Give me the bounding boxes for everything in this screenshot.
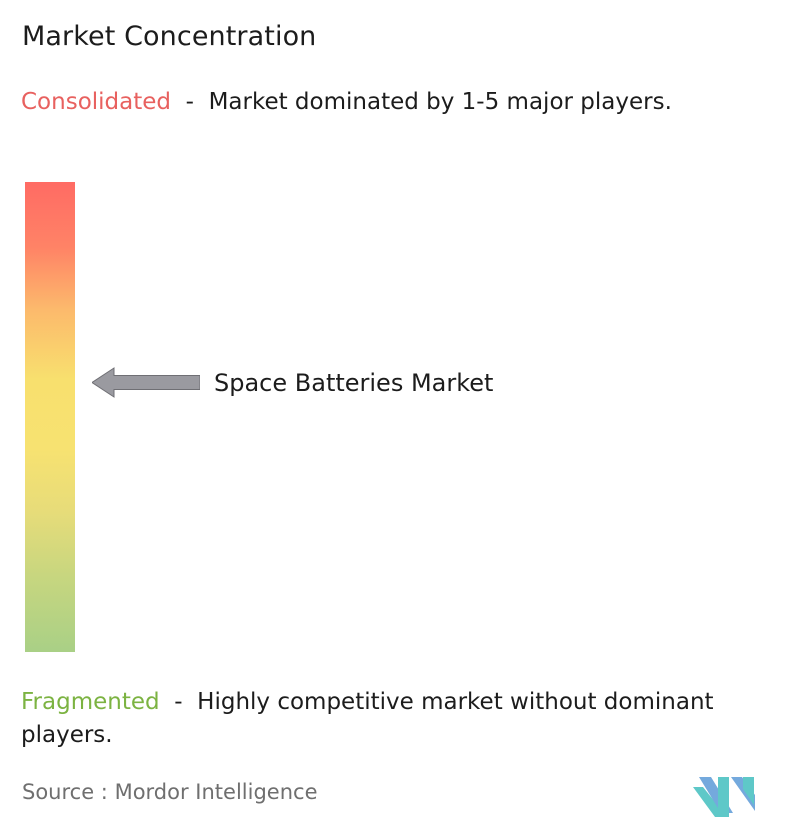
consolidated-separator: -	[171, 89, 209, 115]
mordor-intelligence-logo-icon	[693, 775, 755, 821]
consolidated-keyword: Consolidated	[21, 89, 171, 115]
footer: Source : Mordor Intelligence	[0, 775, 796, 825]
market-marker: Space Batteries Market	[92, 366, 493, 399]
source-name: Mordor Intelligence	[115, 780, 318, 804]
consolidated-text: Market dominated by 1-5 major players.	[209, 89, 672, 115]
source-attribution: Source : Mordor Intelligence	[22, 778, 317, 806]
source-label: Source :	[22, 780, 108, 804]
consolidated-description: Consolidated - Market dominated by 1-5 m…	[21, 86, 781, 119]
arrow-left-icon	[92, 366, 200, 399]
fragmented-keyword: Fragmented	[21, 689, 160, 715]
page-title: Market Concentration	[22, 20, 316, 54]
market-marker-label: Space Batteries Market	[214, 369, 493, 397]
fragmented-separator: -	[160, 689, 198, 715]
fragmented-description: Fragmented - Highly competitive market w…	[21, 686, 783, 752]
concentration-scale-bar	[25, 182, 75, 652]
